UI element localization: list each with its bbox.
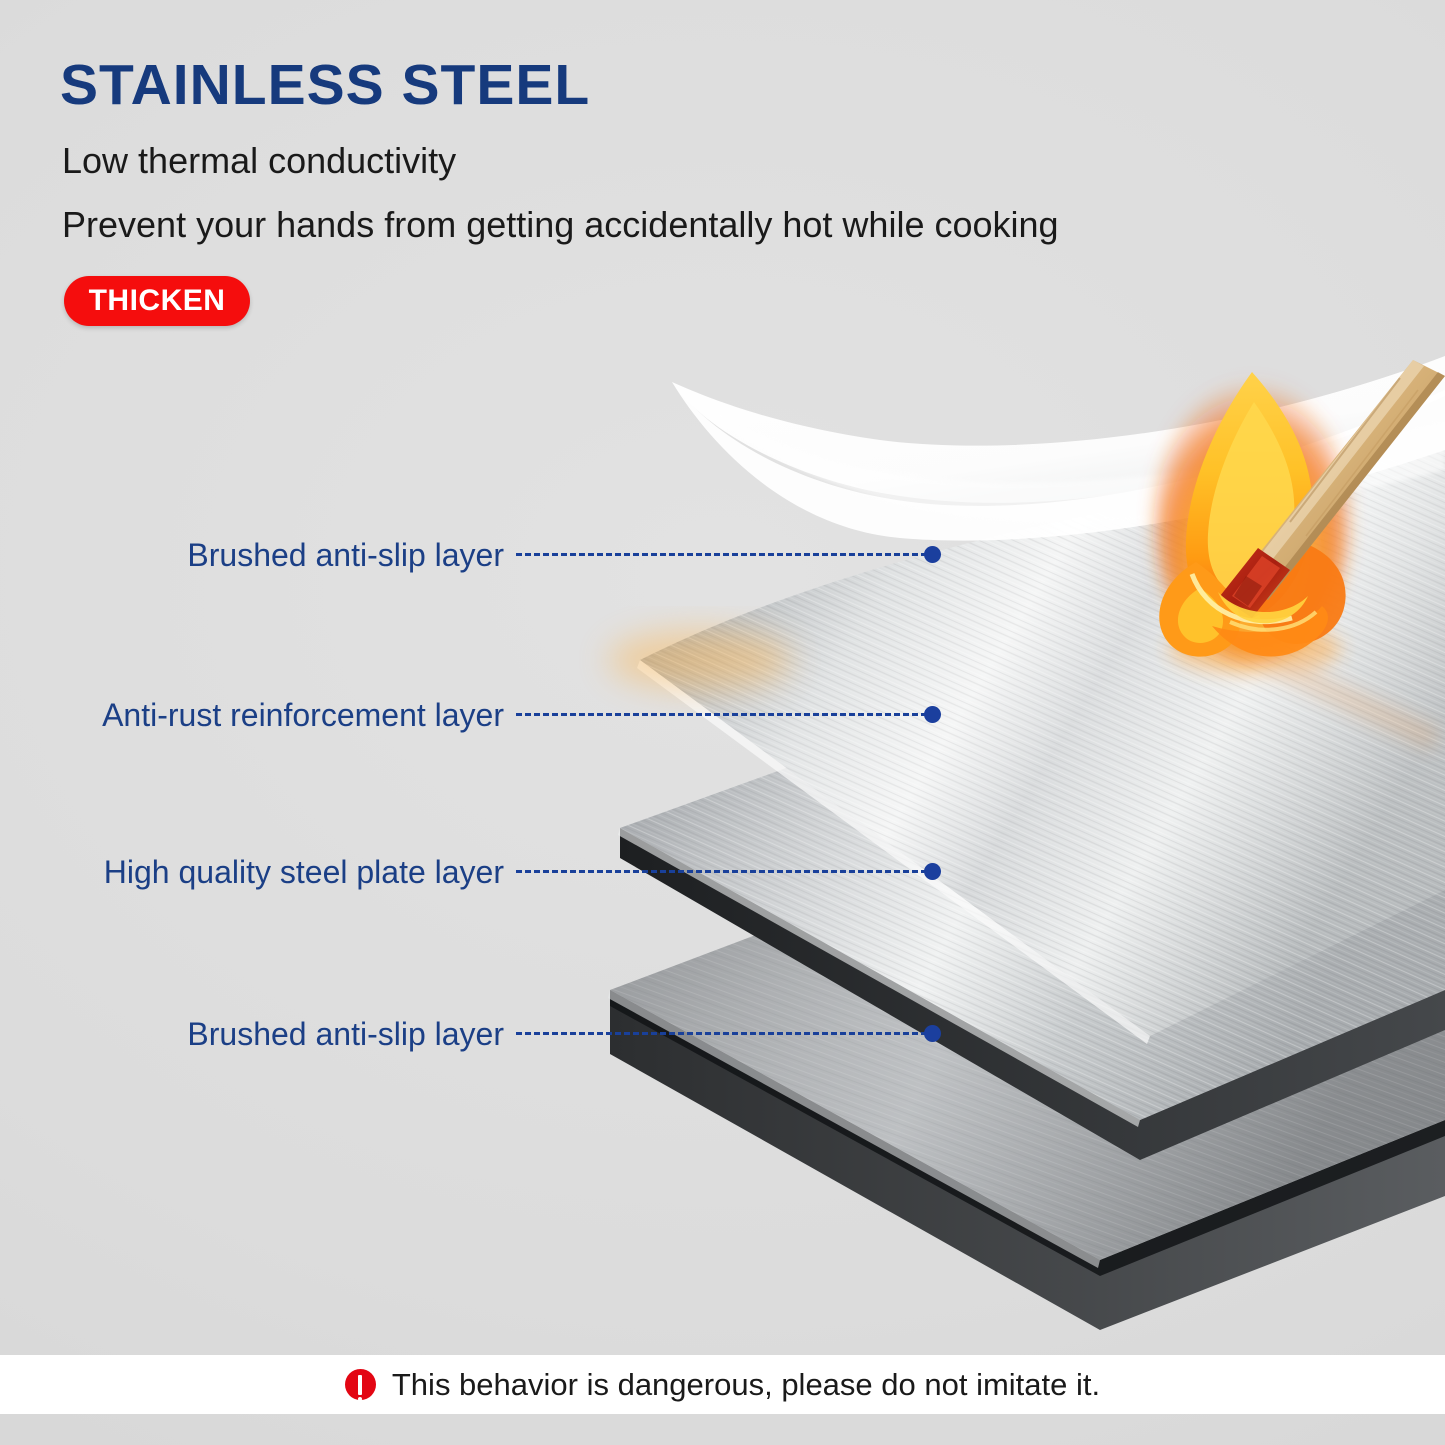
callout-brushed-anti-slip-top: Brushed anti-slip layer bbox=[148, 553, 941, 555]
warning-footer: This behavior is dangerous, please do no… bbox=[0, 1355, 1445, 1414]
callout-brushed-anti-slip-bottom: Brushed anti-slip layer bbox=[148, 1032, 941, 1034]
leader-dot bbox=[924, 1025, 941, 1042]
subtitle-line-2: Prevent your hands from getting accident… bbox=[62, 204, 1059, 246]
thicken-badge-label: THICKEN bbox=[89, 284, 226, 318]
callout-high-quality-steel-plate: High quality steel plate layer bbox=[50, 870, 941, 872]
infographic-canvas: STAINLESS STEEL Low thermal conductivity… bbox=[0, 0, 1445, 1445]
leader-line bbox=[516, 553, 927, 556]
subtitle-line-1: Low thermal conductivity bbox=[62, 140, 456, 182]
leader-dot bbox=[924, 863, 941, 880]
leader-dot bbox=[924, 706, 941, 723]
steel-layers-illustration bbox=[0, 330, 1445, 1340]
flame-reflection bbox=[608, 630, 792, 690]
leader-line bbox=[516, 870, 927, 873]
thicken-badge: THICKEN bbox=[64, 276, 250, 326]
leader-line bbox=[516, 713, 927, 716]
warning-text: This behavior is dangerous, please do no… bbox=[392, 1367, 1100, 1403]
leader-line bbox=[516, 1032, 927, 1035]
callout-label: Brushed anti-slip layer bbox=[187, 537, 504, 574]
steel-stack-svg bbox=[0, 330, 1445, 1340]
callout-label: High quality steel plate layer bbox=[104, 854, 504, 891]
leader-dot bbox=[924, 546, 941, 563]
callout-label: Anti-rust reinforcement layer bbox=[102, 697, 504, 734]
callout-anti-rust-reinforcement: Anti-rust reinforcement layer bbox=[42, 713, 941, 715]
callout-label: Brushed anti-slip layer bbox=[187, 1016, 504, 1053]
page-title: STAINLESS STEEL bbox=[60, 52, 590, 118]
exclamation-circle-icon bbox=[345, 1369, 376, 1400]
